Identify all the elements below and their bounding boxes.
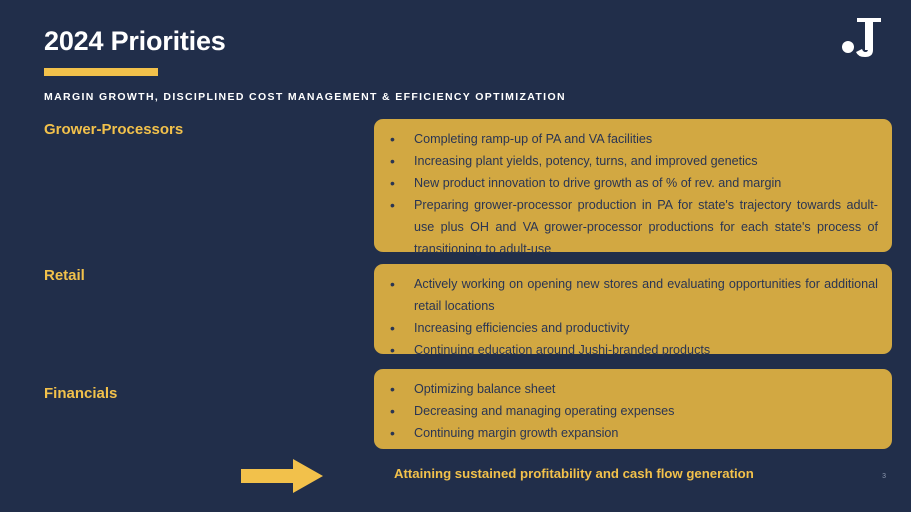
bullet-dot-icon: • (386, 150, 414, 172)
right-arrow-icon (241, 459, 323, 493)
bullet-dot-icon: • (386, 422, 414, 444)
list-item: • Optimizing balance sheet (386, 378, 878, 400)
content-box-financials: • Optimizing balance sheet • Decreasing … (374, 369, 892, 449)
list-item: • Actively working on opening new stores… (386, 273, 878, 317)
bullet-text: Completing ramp-up of PA and VA faciliti… (414, 128, 878, 150)
bullet-dot-icon: • (386, 128, 414, 150)
bullet-dot-icon: • (386, 339, 414, 361)
bullet-text: Continuing margin growth expansion (414, 422, 878, 444)
content-box-grower-processors: • Completing ramp-up of PA and VA facili… (374, 119, 892, 252)
content-box-retail: • Actively working on opening new stores… (374, 264, 892, 354)
bullet-list-retail: • Actively working on opening new stores… (386, 273, 878, 361)
list-item: • Continuing education around Jushi-bran… (386, 339, 878, 361)
list-item: • Continuing margin growth expansion (386, 422, 878, 444)
bullet-dot-icon: • (386, 172, 414, 194)
list-item: • New product innovation to drive growth… (386, 172, 878, 194)
bullet-list-grower-processors: • Completing ramp-up of PA and VA facili… (386, 128, 878, 260)
bullet-dot-icon: • (386, 194, 414, 216)
bullet-text: Increasing plant yields, potency, turns,… (414, 150, 878, 172)
bullet-dot-icon: • (386, 273, 414, 295)
section-label-financials: Financials (44, 385, 117, 402)
bullet-text: New product innovation to drive growth a… (414, 172, 878, 194)
list-item: • Decreasing and managing operating expe… (386, 400, 878, 422)
section-label-grower-processors: Grower-Processors (44, 121, 183, 138)
bullet-text: Decreasing and managing operating expens… (414, 400, 878, 422)
page-subtitle: MARGIN GROWTH, DISCIPLINED COST MANAGEME… (44, 91, 566, 103)
bullet-text: Optimizing balance sheet (414, 378, 878, 400)
section-label-retail: Retail (44, 267, 85, 284)
list-item: • Increasing efficiencies and productivi… (386, 317, 878, 339)
slide-canvas: 2024 Priorities MARGIN GROWTH, DISCIPLIN… (0, 0, 911, 512)
bullet-dot-icon: • (386, 400, 414, 422)
list-item: • Increasing plant yields, potency, turn… (386, 150, 878, 172)
jushi-logo (837, 14, 889, 62)
bullet-list-financials: • Optimizing balance sheet • Decreasing … (386, 378, 878, 444)
bullet-text: Actively working on opening new stores a… (414, 273, 878, 317)
page-title: 2024 Priorities (44, 26, 226, 57)
bullet-dot-icon: • (386, 317, 414, 339)
page-number: 3 (882, 473, 886, 480)
bullet-dot-icon: • (386, 378, 414, 400)
bullet-text: Continuing education around Jushi-brande… (414, 339, 878, 361)
title-underline-accent (44, 68, 158, 76)
list-item: • Completing ramp-up of PA and VA facili… (386, 128, 878, 150)
footer-tagline: Attaining sustained profitability and ca… (394, 466, 754, 481)
bullet-text: Preparing grower-processor production in… (414, 194, 878, 260)
list-item: • Preparing grower-processor production … (386, 194, 878, 260)
bullet-text: Increasing efficiencies and productivity (414, 317, 878, 339)
